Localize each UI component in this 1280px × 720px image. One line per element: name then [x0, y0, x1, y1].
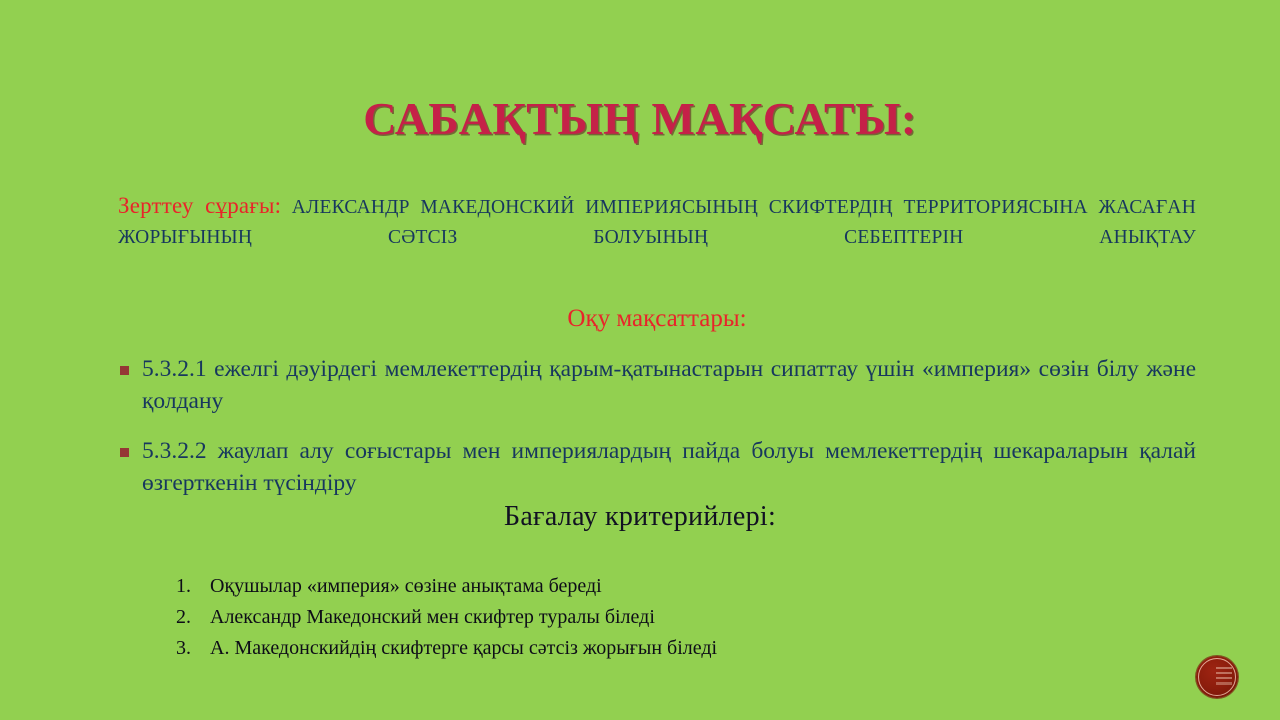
list-item-label: Оқушылар «империя» сөзіне анықтама беред…: [210, 571, 602, 602]
list-item: 2. Александр Македонский мен скифтер тур…: [176, 602, 717, 633]
slide-canvas: САБАҚТЫҢ МАҚСАТЫ: Зерттеу сұрағы: АЛЕКСА…: [0, 0, 1280, 720]
slide-body: Зерттеу сұрағы: АЛЕКСАНДР МАКЕДОНСКИЙ ИМ…: [118, 190, 1196, 500]
page-title: САБАҚТЫҢ МАҚСАТЫ:: [0, 93, 1280, 146]
list-item: 5.3.2.1 ежелгі дәуірдегі мемлекеттердің …: [118, 354, 1196, 418]
list-item-label: Александр Македонский мен скифтер туралы…: [210, 602, 655, 633]
square-bullet-icon: [120, 448, 129, 457]
list-item-label: 5.3.2.2 жаулап алу соғыстары мен империя…: [142, 436, 1196, 500]
list-item: 1. Оқушылар «империя» сөзіне анықтама бе…: [176, 571, 717, 602]
learning-objectives-heading: Оқу мақсаттары:: [118, 304, 1196, 334]
corner-seal-icon: [1196, 656, 1238, 698]
square-bullet-icon: [120, 366, 129, 375]
list-item: 3. А. Македонскийдің скифтерге қарсы сәт…: [176, 633, 717, 664]
list-item-label: А. Македонскийдің скифтерге қарсы сәтсіз…: [210, 633, 717, 664]
research-question-label: Зерттеу сұрағы:: [118, 193, 281, 218]
list-item-number: 3.: [176, 633, 210, 664]
learning-objectives-list: 5.3.2.1 ежелгі дәуірдегі мемлекеттердің …: [118, 354, 1196, 500]
assessment-criteria-list: 1. Оқушылар «империя» сөзіне анықтама бе…: [176, 571, 717, 665]
list-item-number: 1.: [176, 571, 210, 602]
list-item-label: 5.3.2.1 ежелгі дәуірдегі мемлекеттердің …: [142, 354, 1196, 418]
research-question: Зерттеу сұрағы: АЛЕКСАНДР МАКЕДОНСКИЙ ИМ…: [118, 190, 1196, 280]
list-item: 5.3.2.2 жаулап алу соғыстары мен империя…: [118, 436, 1196, 500]
list-item-number: 2.: [176, 602, 210, 633]
seal-glyph-icon: [1216, 667, 1232, 685]
assessment-criteria-heading: Бағалау критерийлері:: [0, 500, 1280, 534]
